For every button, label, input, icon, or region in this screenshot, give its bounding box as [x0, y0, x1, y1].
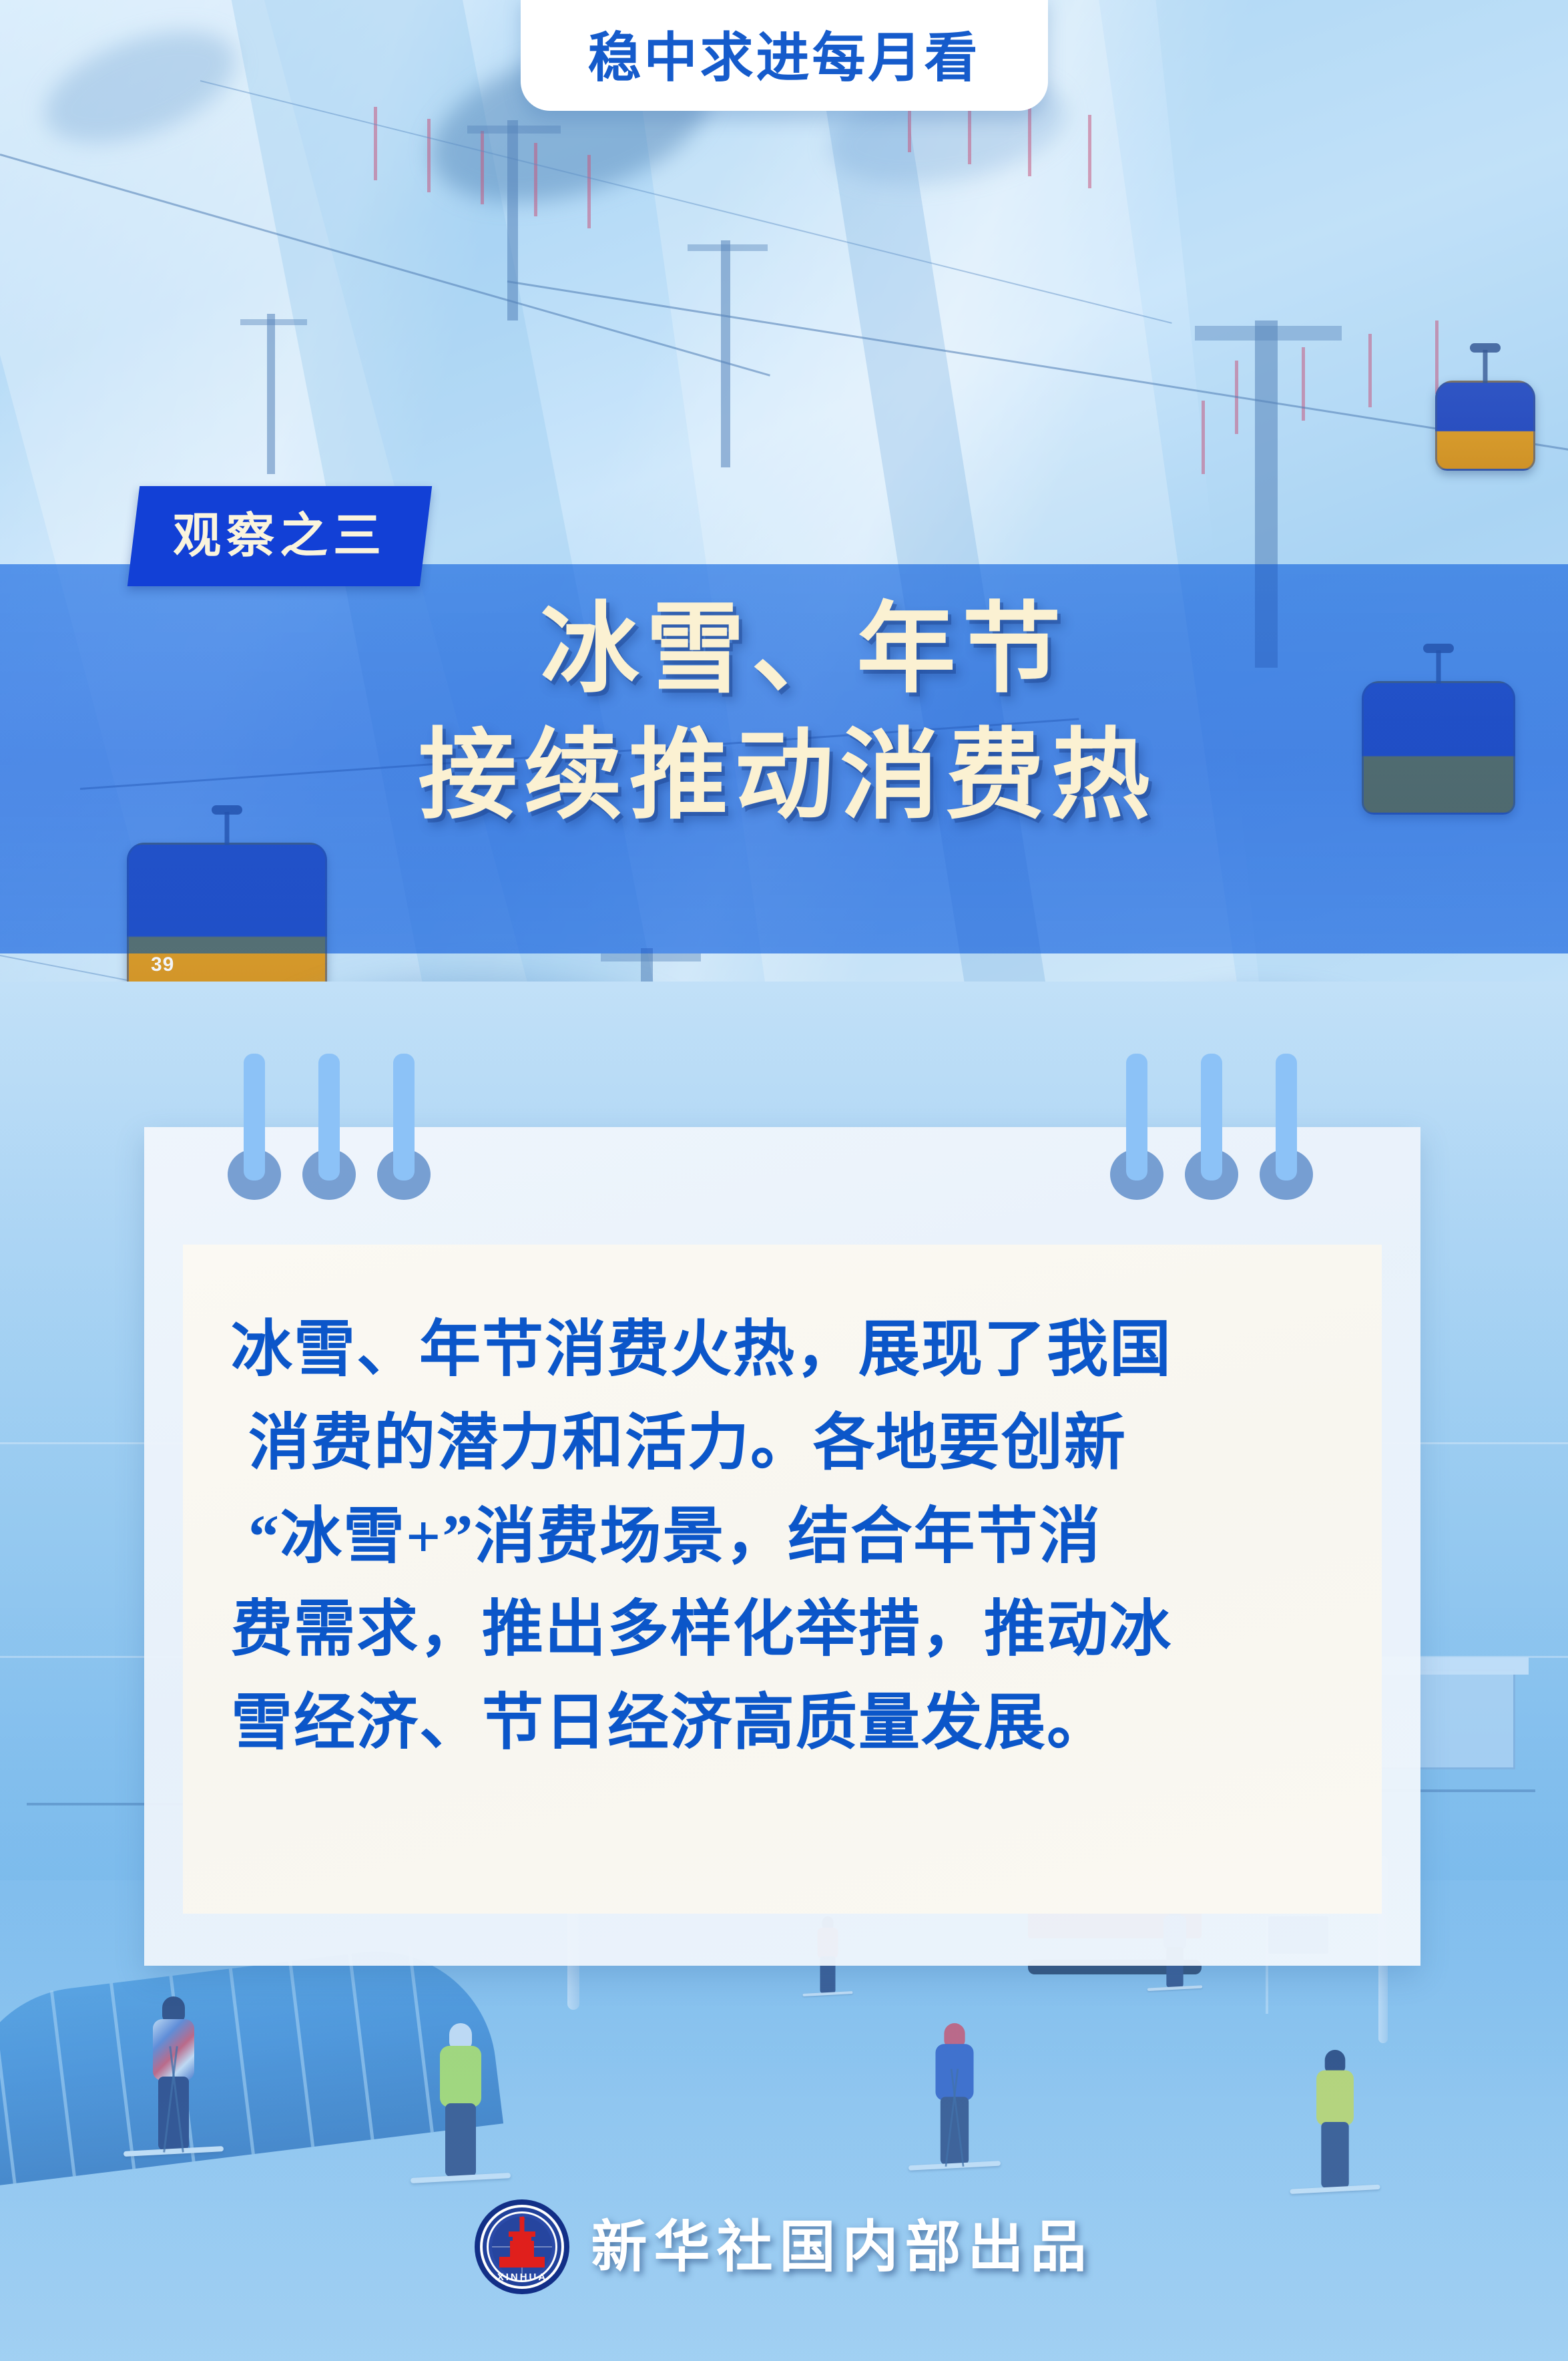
tunnel-rib [109, 1983, 136, 2169]
title-line-1: 冰雪、年节 [0, 588, 1568, 714]
binder-rings [144, 1054, 1420, 1227]
footer-label: 新华社国内部出品 [591, 2219, 1093, 2275]
tunnel-rib [229, 1968, 255, 2155]
skier-legs [445, 2103, 476, 2177]
body-line: 费需求，推出多样化举措，推动冰 [231, 1583, 1342, 1677]
slope-fence-pole [481, 131, 484, 204]
lift-pylon [507, 120, 518, 320]
slope-fence-pole [1202, 401, 1205, 474]
observation-tag: 观察之三 [127, 486, 432, 586]
gondola-cabin [1435, 381, 1535, 471]
logo-tower-icon [503, 2217, 541, 2273]
ring-bar [244, 1054, 265, 1180]
slope-fence-pole [1302, 347, 1305, 421]
ring-bar [1201, 1054, 1222, 1180]
ring-bar [1276, 1054, 1297, 1180]
lift-pylon [267, 314, 275, 474]
slope-fence-pole [427, 119, 431, 192]
gondola-hanger [1483, 350, 1488, 383]
slope-fence-pole [1088, 115, 1091, 188]
tunnel-rib [50, 1990, 76, 2177]
footer: XINHUA 新华社国内部出品 [0, 2199, 1568, 2294]
binder-ring [1175, 1054, 1248, 1207]
binder-ring [367, 1054, 441, 1207]
binder-ring [292, 1054, 366, 1207]
slope-fence-pole [1368, 334, 1372, 407]
logo-wordmark: XINHUA [475, 2272, 569, 2283]
skier-jacket [1316, 2071, 1354, 2126]
tunnel-rib [348, 1954, 374, 2140]
binder-ring [1250, 1054, 1323, 1207]
logo-base [499, 2257, 545, 2268]
body-line: 消费的潜力和活力。各地要创新 [231, 1397, 1342, 1490]
body-line: “冰雪+”消费场景，结合年节消 [231, 1490, 1342, 1584]
gondola-number-label: 39 [151, 953, 174, 976]
slope-fence-pole [374, 107, 377, 180]
tunnel-rib [408, 1946, 434, 2133]
lift-pylon-crossarm [240, 319, 307, 325]
title-line-2: 接续推动消费热 [0, 714, 1568, 840]
body-line: 雪经济、节日经济高质量发展。 [231, 1677, 1342, 1770]
binder-ring [1100, 1054, 1173, 1207]
slope-fence-pole [534, 143, 537, 216]
ring-bar [318, 1054, 340, 1180]
logo-roof [509, 2231, 535, 2237]
card-inner-sheet: 冰雪、年节消费火热，展现了我国 消费的潜力和活力。各地要创新 “冰雪+”消费场景… [183, 1245, 1382, 1914]
lift-pylon-crossarm [688, 244, 768, 251]
card-body-text: 冰雪、年节消费火热，展现了我国 消费的潜力和活力。各地要创新 “冰雪+”消费场景… [231, 1303, 1342, 1770]
notebook-card: 冰雪、年节消费火热，展现了我国 消费的潜力和活力。各地要创新 “冰雪+”消费场景… [144, 1127, 1420, 1966]
slope-fence-pole [1028, 103, 1031, 176]
top-tab-label: 稳中求进每月看 [588, 19, 981, 85]
gondola-body [1435, 381, 1535, 471]
ring-bar [393, 1054, 415, 1180]
tunnel-rib [0, 1998, 17, 2184]
body-line: 冰雪、年节消费火热，展现了我国 [231, 1303, 1342, 1397]
lift-pylon-crossarm [601, 953, 701, 961]
logo-leg-right [529, 2241, 534, 2258]
tunnel-rib [288, 1961, 314, 2147]
xinhua-logo-icon: XINHUA [475, 2199, 569, 2294]
slope-fence-pole [587, 155, 591, 228]
logo-leg-left [510, 2241, 515, 2258]
lift-pylon-crossarm [467, 126, 561, 134]
lift-pylon [721, 240, 730, 467]
skier-jacket [440, 2046, 481, 2107]
poster-root: 39 41 [0, 0, 1568, 2361]
top-title-tab[interactable]: 稳中求进每月看 [521, 0, 1048, 111]
skier-legs [1321, 2122, 1348, 2188]
ring-bar [1126, 1054, 1147, 1180]
page-title: 冰雪、年节 接续推动消费热 [0, 588, 1568, 841]
observation-tag-label: 观察之三 [173, 512, 386, 560]
lift-pylon-crossarm [1195, 326, 1342, 341]
binder-ring [218, 1054, 291, 1207]
